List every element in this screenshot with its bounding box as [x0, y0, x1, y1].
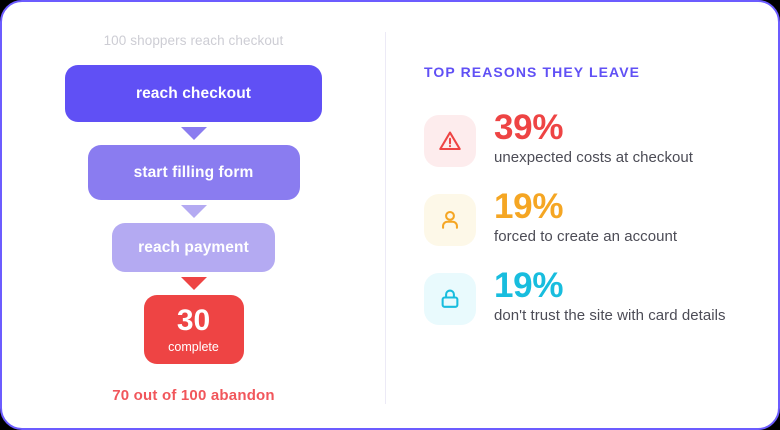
reason-label: unexpected costs at checkout	[494, 149, 693, 166]
reason-percent: 19%	[494, 189, 677, 225]
reason-label: forced to create an account	[494, 228, 677, 245]
reason-body: 19% forced to create an account	[494, 189, 677, 245]
reason-percent: 39%	[494, 110, 693, 146]
top-reasons-heading: TOP REASONS THEY LEAVE	[424, 64, 640, 80]
funnel-stage-reach-payment[interactable]: reach payment	[112, 223, 275, 272]
funnel-bottom-caption: 70 out of 100 abandon	[2, 387, 385, 404]
funnel-top-caption: 100 shoppers reach checkout	[2, 33, 385, 48]
reason-body: 19% don't trust the site with card detai…	[494, 268, 726, 324]
funnel-stage-list: reach checkout start filling form reach …	[2, 65, 385, 364]
reason-body: 39% unexpected costs at checkout	[494, 110, 693, 166]
reason-label: don't trust the site with card details	[494, 307, 726, 324]
reason-percent: 19%	[494, 268, 726, 304]
funnel-stage-complete[interactable]: 30 complete	[144, 295, 244, 364]
warning-triangle-icon	[424, 115, 476, 167]
funnel-complete-value: 30	[177, 306, 210, 336]
top-reasons-panel: TOP REASONS THEY LEAVE 39% unexpected co…	[386, 2, 780, 430]
person-icon	[424, 194, 476, 246]
checkout-funnel-panel: 100 shoppers reach checkout reach checko…	[2, 2, 385, 430]
arrow-down-icon-1	[181, 127, 207, 140]
infographic-card: 100 shoppers reach checkout reach checko…	[0, 0, 780, 430]
arrow-down-icon-3	[181, 277, 207, 290]
funnel-stage-label: start filling form	[134, 164, 254, 182]
funnel-stage-reach-checkout[interactable]: reach checkout	[65, 65, 322, 122]
reason-list: 39% unexpected costs at checkout 19% for…	[424, 110, 772, 347]
lock-icon	[424, 273, 476, 325]
list-item[interactable]: 19% forced to create an account	[424, 189, 772, 246]
funnel-complete-label: complete	[168, 340, 219, 354]
funnel-stage-start-filling-form[interactable]: start filling form	[88, 145, 300, 200]
arrow-down-icon-2	[181, 205, 207, 218]
list-item[interactable]: 19% don't trust the site with card detai…	[424, 268, 772, 325]
list-item[interactable]: 39% unexpected costs at checkout	[424, 110, 772, 167]
funnel-stage-label: reach payment	[138, 239, 249, 257]
funnel-stage-label: reach checkout	[136, 85, 251, 103]
